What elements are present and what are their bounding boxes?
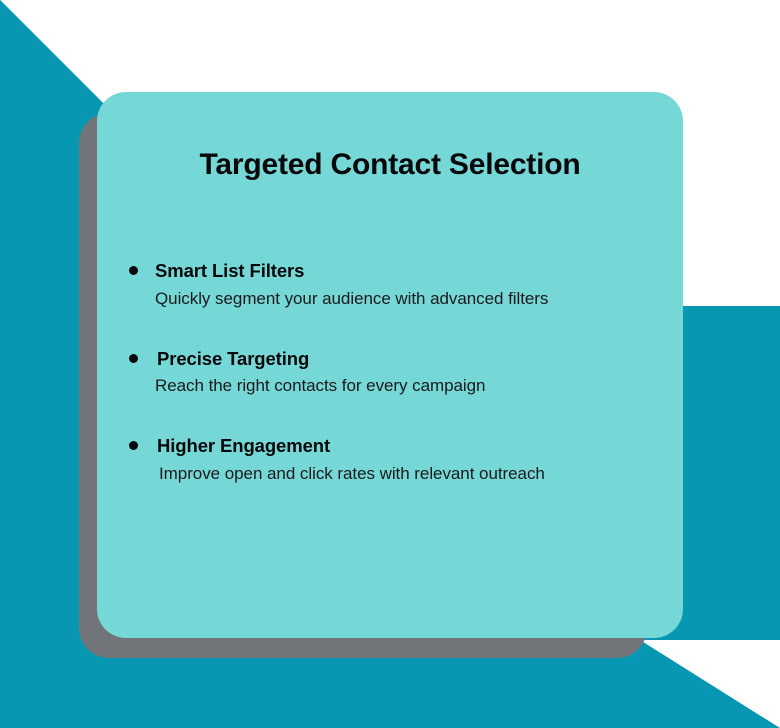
- list-item: Precise Targeting Reach the right contac…: [125, 348, 667, 398]
- feature-heading: Higher Engagement: [155, 435, 667, 458]
- bullet-dot-icon: [129, 354, 138, 363]
- feature-description: Improve open and click rates with releva…: [155, 458, 667, 485]
- card-title: Targeted Contact Selection: [97, 148, 683, 183]
- list-item: Smart List Filters Quickly segment your …: [125, 260, 667, 310]
- feature-description: Quickly segment your audience with advan…: [155, 283, 667, 310]
- bullet-dot-icon: [129, 266, 138, 275]
- feature-description: Reach the right contacts for every campa…: [155, 370, 667, 397]
- feature-heading: Smart List Filters: [155, 260, 667, 283]
- feature-list: Smart List Filters Quickly segment your …: [125, 260, 667, 485]
- bullet-dot-icon: [129, 441, 138, 450]
- list-item: Higher Engagement Improve open and click…: [125, 435, 667, 485]
- feature-heading: Precise Targeting: [155, 348, 667, 371]
- slide-canvas: Targeted Contact Selection Smart List Fi…: [0, 0, 780, 728]
- feature-card: Targeted Contact Selection Smart List Fi…: [97, 92, 683, 638]
